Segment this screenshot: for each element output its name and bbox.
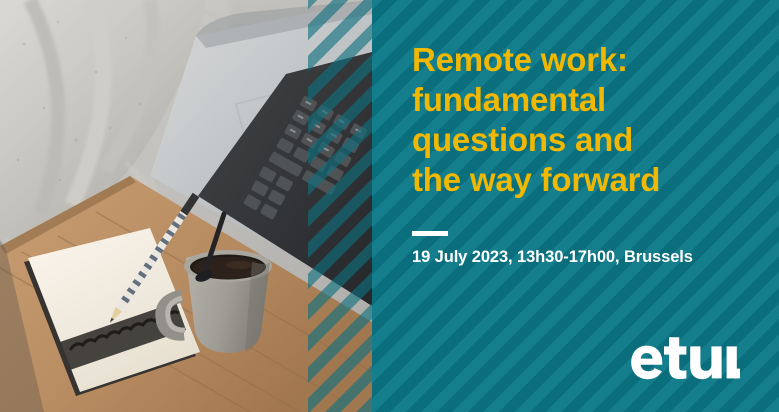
banner-photo — [0, 0, 372, 412]
event-date-location: 19 July 2023, 13h30-17h00, Brussels — [412, 248, 693, 267]
event-banner: Remote work: fundamental questions and t… — [0, 0, 779, 412]
title-divider-rule — [412, 231, 448, 236]
teal-panel: Remote work: fundamental questions and t… — [372, 0, 779, 412]
etui-logo — [630, 336, 740, 388]
event-title: Remote work: fundamental questions and t… — [412, 40, 742, 200]
